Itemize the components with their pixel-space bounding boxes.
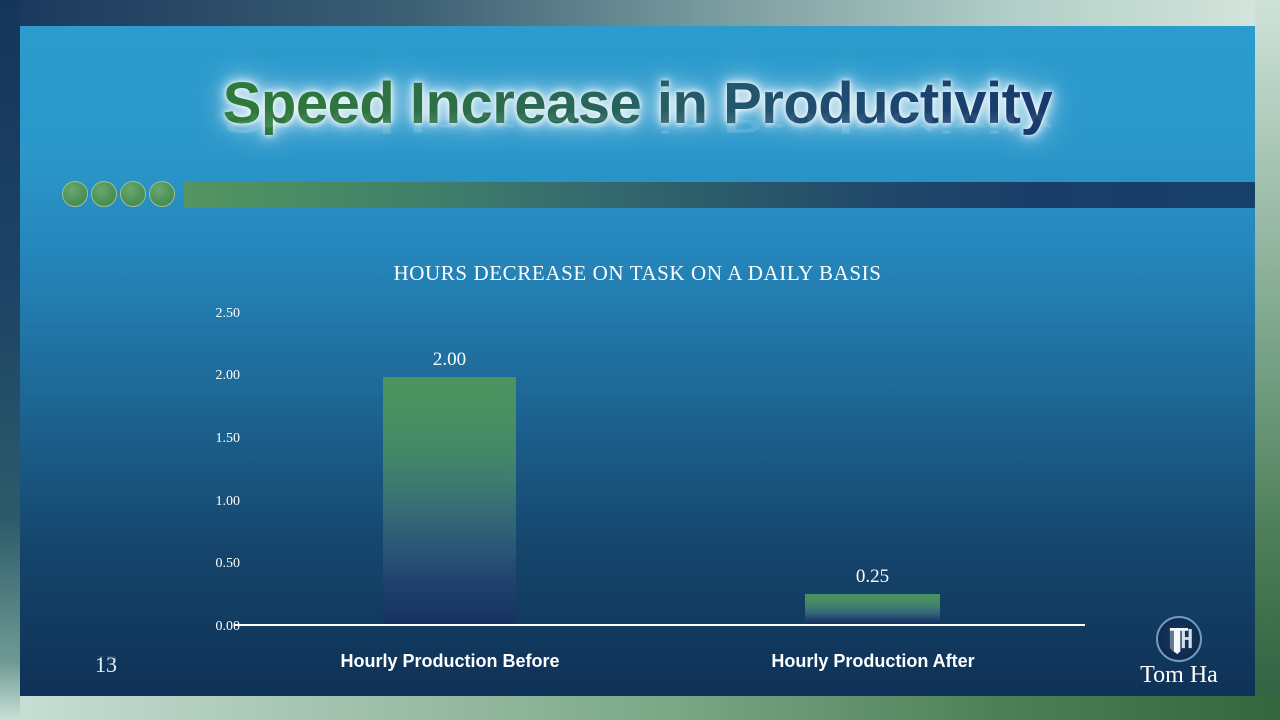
th-shield-monogram-icon [1156,616,1202,662]
slide-title: Speed Increase in Productivity [223,74,1053,135]
page-number-reflection: 13 [95,653,117,667]
slide-border-right [1255,0,1280,720]
bar-chart: HOURS DECREASE ON TASK ON A DAILY BASIS … [20,221,1255,696]
chart-title: HOURS DECREASE ON TASK ON A DAILY BASIS [20,261,1255,286]
slide-canvas: Speed Increase in Productivity Speed Inc… [20,26,1255,696]
slide-border-bottom [0,696,1280,720]
bar-value-label: 0.25 [856,566,889,588]
slide-border-left [0,0,20,720]
x-axis-line [234,624,1085,626]
slide-border-top [0,0,1280,26]
bar-hourly-production-after[interactable]: 0.25 [805,594,940,624]
bar-fill [383,377,516,624]
bar-hourly-production-before[interactable]: 2.00 [383,377,516,624]
decorative-circle-icon [91,181,117,207]
bar-fill [805,594,940,624]
chart-plot-area: 2.50 2.00 1.50 1.00 0.50 0.00 2.00 0.25 [20,306,1255,636]
x-axis-category-label: Hourly Production After [771,651,974,672]
brand-name: Tom Ha [1109,663,1249,688]
slide-title-block: Speed Increase in Productivity Speed Inc… [20,74,1255,198]
decorative-gradient-bar [184,182,1255,208]
decorative-circle-icon [62,181,88,207]
brand-block: Tom Ha [1109,616,1249,688]
decorative-band [40,181,1255,209]
decorative-circle-icon [120,181,146,207]
slide-title-reflection: Speed Increase in Productivity [223,106,1053,136]
decorative-circle-icon [149,181,175,207]
bar-value-label: 2.00 [433,349,466,371]
x-axis-category-label: Hourly Production Before [340,651,559,672]
presentation-slide: Speed Increase in Productivity Speed Inc… [0,0,1280,720]
